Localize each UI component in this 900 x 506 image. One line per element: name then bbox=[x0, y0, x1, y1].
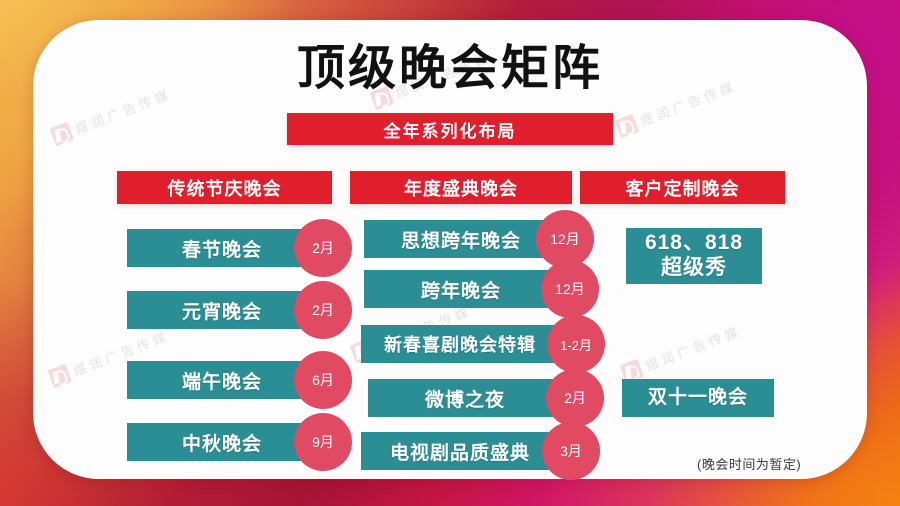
event-month-badge: 2月 bbox=[546, 369, 604, 427]
yunrun-logo-icon bbox=[48, 364, 73, 389]
event-bar[interactable]: 端午晚会 bbox=[127, 361, 317, 399]
subtitle-label: 全年系列化布局 bbox=[384, 117, 517, 142]
event-month-label: 6月 bbox=[312, 370, 334, 390]
event-name: 双十一晚会 bbox=[648, 387, 748, 409]
watermark-label: 煜润广告传媒 bbox=[642, 320, 744, 374]
column-header-label: 客户定制晚会 bbox=[626, 175, 740, 201]
column-header-annual[interactable]: 年度盛典晚会 bbox=[350, 171, 572, 204]
yunrun-logo-icon bbox=[615, 114, 640, 139]
event-month-badge: 1-2月 bbox=[547, 315, 605, 373]
event-box[interactable]: 双十一晚会 bbox=[622, 379, 774, 417]
event-month-badge: 6月 bbox=[294, 351, 352, 409]
event-name: 跨年晚会 bbox=[421, 276, 501, 303]
event-month-label: 1-2月 bbox=[560, 335, 592, 354]
event-bar[interactable]: 新春喜剧晚会特辑 bbox=[361, 325, 559, 363]
event-month-badge: 12月 bbox=[541, 260, 599, 318]
page-title: 顶级晚会矩阵 bbox=[0, 28, 900, 98]
event-name: 元宵晚会 bbox=[182, 297, 262, 324]
event-bar[interactable]: 中秋晚会 bbox=[127, 423, 317, 461]
event-bar[interactable]: 春节晚会 bbox=[127, 229, 317, 267]
event-month-label: 2月 bbox=[312, 238, 334, 258]
event-month-badge: 2月 bbox=[294, 281, 352, 339]
event-month-label: 3月 bbox=[560, 441, 582, 461]
event-bar[interactable]: 电视剧品质盛典 bbox=[361, 432, 559, 470]
event-month-label: 12月 bbox=[555, 279, 585, 299]
event-month-badge: 9月 bbox=[294, 413, 352, 471]
subtitle-banner: 全年系列化布局 bbox=[287, 113, 613, 145]
event-name: 新春喜剧晚会特辑 bbox=[384, 331, 536, 357]
event-month-label: 12月 bbox=[550, 229, 580, 249]
column-header-traditional[interactable]: 传统节庆晚会 bbox=[117, 171, 332, 204]
footnote: (晚会时间为暂定) bbox=[697, 454, 801, 473]
event-name: 中秋晚会 bbox=[182, 429, 262, 456]
event-name: 思想跨年晚会 bbox=[401, 226, 521, 253]
event-bar[interactable]: 跨年晚会 bbox=[364, 270, 558, 308]
event-month-label: 2月 bbox=[564, 388, 586, 408]
event-bar[interactable]: 思想跨年晚会 bbox=[364, 220, 558, 258]
event-name: 电视剧品质盛典 bbox=[390, 438, 530, 465]
event-name: 春节晚会 bbox=[182, 235, 262, 262]
yunrun-logo-icon bbox=[50, 122, 75, 147]
event-name: 端午晚会 bbox=[182, 367, 262, 394]
event-bar[interactable]: 微博之夜 bbox=[368, 379, 562, 417]
event-name: 618、818 超级秀 bbox=[645, 231, 743, 281]
event-name: 微博之夜 bbox=[425, 385, 505, 412]
event-month-badge: 3月 bbox=[542, 422, 600, 480]
column-header-label: 传统节庆晚会 bbox=[168, 175, 282, 201]
watermark: 煜润广告传媒 bbox=[620, 320, 744, 383]
event-bar[interactable]: 元宵晚会 bbox=[127, 291, 317, 329]
slide-canvas: 煜润广告传媒 煜润广告传媒 煜润广告传媒 煜润广告传媒 煜润广告传媒 煜润广告传… bbox=[0, 0, 900, 506]
event-month-label: 2月 bbox=[312, 300, 334, 320]
event-month-label: 9月 bbox=[312, 432, 334, 452]
event-box[interactable]: 618、818 超级秀 bbox=[626, 228, 762, 284]
column-header-custom[interactable]: 客户定制晚会 bbox=[580, 171, 785, 204]
event-month-badge: 2月 bbox=[294, 219, 352, 277]
column-header-label: 年度盛典晚会 bbox=[404, 175, 518, 201]
